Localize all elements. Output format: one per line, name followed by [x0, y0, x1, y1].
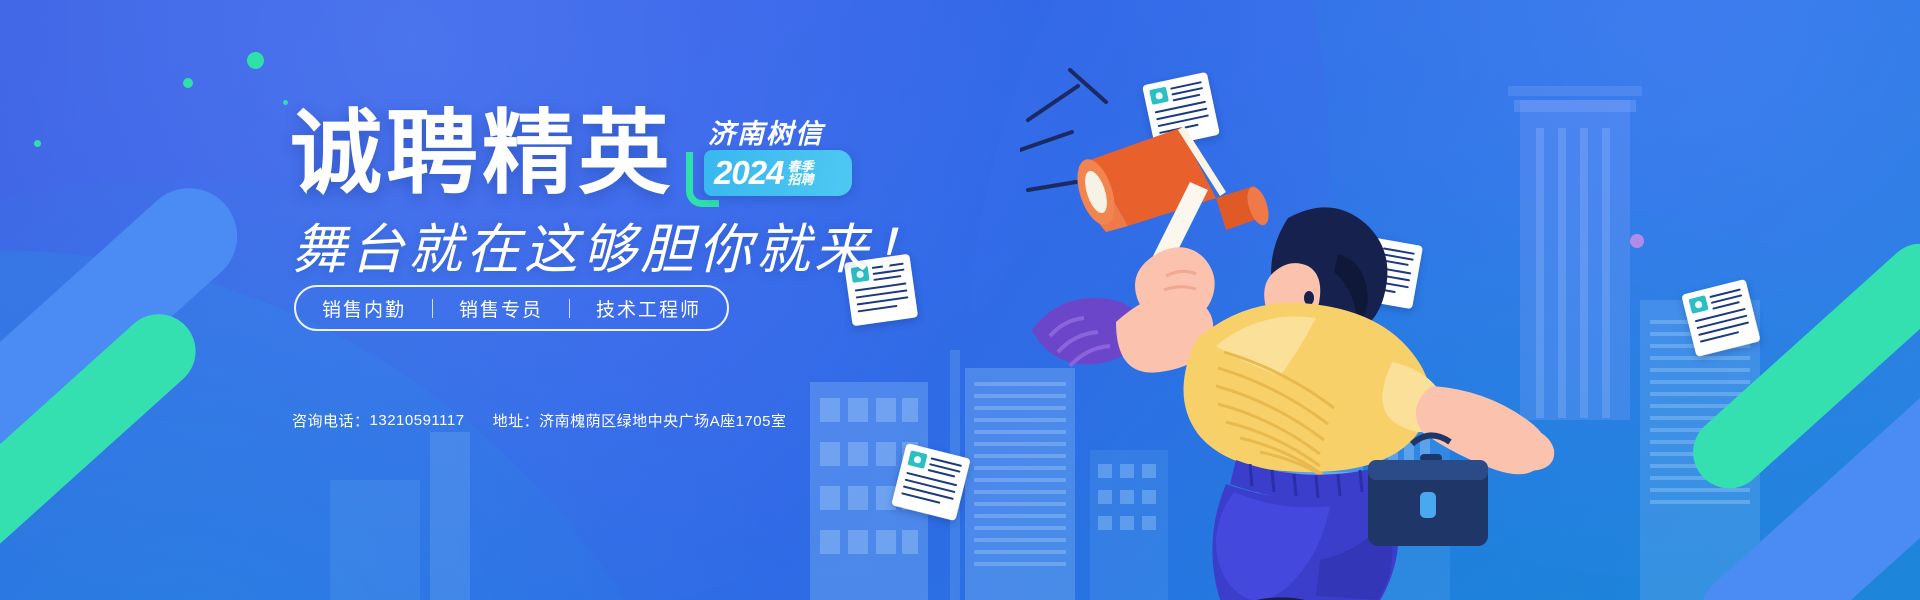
- decor-dot-purple: [1630, 234, 1644, 248]
- phone-label: 咨询电话：: [292, 410, 370, 431]
- roles-pill: 销售内勤 销售专员 技术工程师: [294, 285, 729, 331]
- role-separator: [432, 299, 433, 318]
- role-item-0[interactable]: 销售内勤: [322, 295, 406, 322]
- shirt: [1183, 303, 1445, 480]
- badge-season: 春季 招聘: [787, 160, 813, 187]
- year-badge: 2024 春季 招聘: [704, 150, 852, 196]
- eye: [1304, 291, 1314, 305]
- banner-copy: 诚聘精英 济南树信 2024 春季 招聘 舞台就在这够胆你就来！ 销售内勤 销售…: [0, 0, 1060, 600]
- role-item-1[interactable]: 销售专员: [459, 295, 543, 322]
- role-separator: [569, 299, 570, 318]
- badge-season-line1: 春季: [787, 160, 813, 173]
- page-subtitle: 舞台就在这够胆你就来！: [292, 205, 930, 284]
- company-brand: 济南树信: [708, 112, 824, 151]
- headline-row: 诚聘精英 济南树信 2024 春季 招聘: [290, 108, 850, 204]
- recruitment-banner: 诚聘精英 济南树信 2024 春季 招聘 舞台就在这够胆你就来！ 销售内勤 销售…: [0, 0, 1920, 600]
- phone-number: 13210591117: [370, 412, 465, 429]
- badge-year-label: 2024: [714, 154, 783, 192]
- megaphone-icon: [1070, 126, 1272, 266]
- badge-season-line2: 招聘: [787, 173, 813, 186]
- address-label: 地址：: [493, 410, 540, 431]
- page-title: 诚聘精英: [290, 108, 674, 200]
- man-with-megaphone-illustration: [1020, 40, 1560, 600]
- address-value: 济南槐荫区绿地中央广场A座1705室: [539, 410, 786, 431]
- recruitment-badge: 济南树信 2024 春季 招聘: [690, 112, 850, 204]
- contact-info: 咨询电话： 13210591117 地址： 济南槐荫区绿地中央广场A座1705室: [292, 410, 786, 431]
- role-item-2[interactable]: 技术工程师: [596, 295, 701, 322]
